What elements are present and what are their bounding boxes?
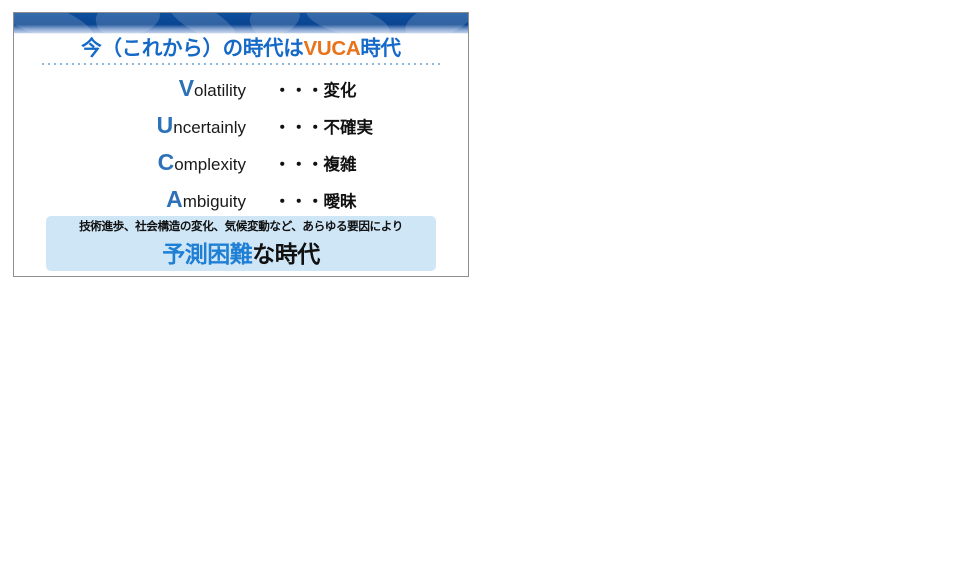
- vuca-rest: mbiguity: [183, 192, 246, 211]
- vuca-meaning: ・・・不確実: [274, 114, 373, 138]
- vuca-term: Uncertainly: [14, 112, 246, 139]
- vuca-term: Volatility: [14, 75, 246, 102]
- slide1-title-accent: VUCA: [303, 37, 360, 60]
- slide1-callout-line2: 予測困難な時代: [162, 235, 320, 269]
- slide1-title-tail: 時代: [360, 37, 400, 60]
- vuca-term: Ambiguity: [14, 186, 246, 213]
- vuca-meaning: ・・・複雑: [274, 151, 357, 175]
- slide1-callout-box: 技術進歩、社会構造の変化、気候変動など、あらゆる要因により 予測困難な時代: [46, 216, 436, 271]
- vuca-capital: V: [179, 75, 194, 101]
- vuca-meaning: ・・・変化: [274, 77, 357, 101]
- slide-grid: 今（これから）の時代はVUCA時代 Volatility ・・・変化 Uncer…: [0, 0, 976, 585]
- slide1-callout-accent: 予測困難: [162, 241, 252, 267]
- vuca-rest: olatility: [194, 81, 246, 100]
- divider-dotted: [40, 63, 442, 65]
- vuca-item: Complexity ・・・複雑: [14, 149, 468, 186]
- slide1-callout-line1: 技術進歩、社会構造の変化、気候変動など、あらゆる要因により: [79, 218, 403, 234]
- vuca-item: Volatility ・・・変化: [14, 75, 468, 112]
- vuca-capital: A: [166, 186, 183, 212]
- vuca-rest: ncertainly: [173, 118, 246, 137]
- vuca-rest: omplexity: [174, 155, 246, 174]
- slide-cell-3: ? 20年後の未来を 想像してみよう 未来で可能になること、可能になってほ しい…: [0, 291, 482, 585]
- slide1-title-main: 今（これから）の時代は: [81, 37, 303, 60]
- slide-vuca[interactable]: 今（これから）の時代はVUCA時代 Volatility ・・・変化 Uncer…: [13, 12, 469, 277]
- vuca-meaning: ・・・曖昧: [274, 188, 357, 212]
- slide-cell-1: 今（これから）の時代はVUCA時代 Volatility ・・・変化 Uncer…: [0, 0, 482, 291]
- slide-cell-2: 社会の変化に合わせ、常に新しい取り組みを 環境への配慮 Panasonic GR…: [482, 0, 976, 291]
- slide1-title: 今（これから）の時代はVUCA時代: [14, 31, 468, 61]
- slide1-callout-tail: な時代: [252, 241, 320, 267]
- vuca-capital: U: [157, 112, 174, 138]
- vuca-list: Volatility ・・・変化 Uncertainly ・・・不確実 Comp…: [14, 75, 468, 223]
- slide-cell-4: 予測困難な時代に 一人一人が未来の創り手となる 受け身で対処するのではなく、主体…: [482, 291, 976, 585]
- vuca-term: Complexity: [14, 149, 246, 176]
- vuca-capital: C: [158, 149, 175, 175]
- vuca-item: Uncertainly ・・・不確実: [14, 112, 468, 149]
